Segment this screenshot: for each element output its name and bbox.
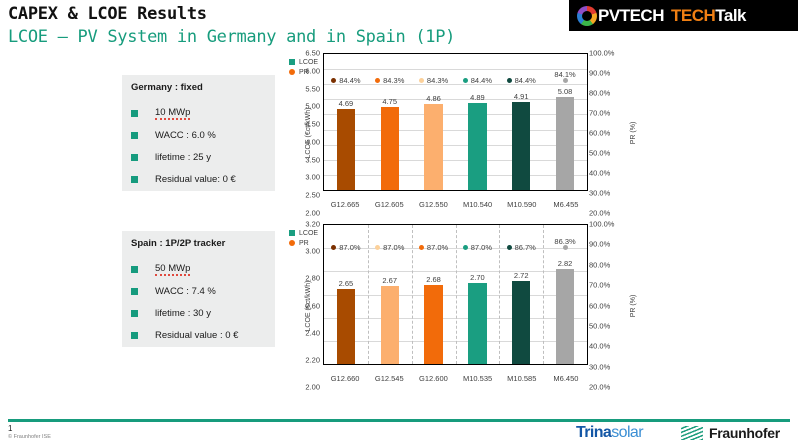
trinasolar-logo: Trinasolar (576, 424, 643, 442)
list-item: WACC : 7.4 % (131, 280, 265, 302)
legend-label: PR (299, 69, 309, 76)
y2-axis-tick: 70.0% (589, 281, 610, 290)
bullet-icon (131, 310, 138, 317)
bar-slot[interactable]: 4.89 (455, 54, 499, 190)
fraunhofer-wordmark: Fraunhofer (709, 425, 780, 441)
spain-residual-value: Residual value : 0 € (155, 330, 238, 341)
bullet-icon (131, 176, 138, 183)
germany-wacc: WACC : 6.0 % (155, 130, 216, 141)
spain-x-axis-labels: G12.660G12.545G12.600M10.535M10.585M6.45… (323, 374, 588, 383)
trina-word: Trina (576, 424, 611, 441)
germany-capacity: 10 MWp (155, 107, 190, 120)
y2-axis-tick: 60.0% (589, 301, 610, 310)
legend-item[interactable]: PR (289, 238, 318, 248)
y2-axis-tick: 30.0% (589, 189, 610, 198)
germany-assumptions-box: Germany : fixed 10 MWp WACC : 6.0 % life… (122, 75, 275, 191)
legend-label: LCOE (299, 230, 318, 237)
fraunhofer-stripes-icon (681, 426, 703, 440)
y-axis-tick: 3.00 (305, 173, 320, 182)
y2-axis-tick: 20.0% (589, 383, 610, 392)
spain-legend: LCOEPR (289, 228, 318, 248)
bar-value-label: 4.69 (339, 99, 354, 108)
y2-axis-tick: 100.0% (589, 220, 614, 229)
bar-value-label: 4.91 (514, 92, 529, 101)
bar-value-label: 2.68 (426, 275, 441, 284)
list-item: 50 MWp (131, 258, 265, 280)
spain-wacc: WACC : 7.4 % (155, 286, 216, 297)
x-axis-label: G12.665 (323, 200, 367, 209)
x-axis-label: M10.590 (500, 200, 544, 209)
y-axis-tick: 2.80 (305, 274, 320, 283)
bar-value-label: 2.67 (382, 276, 397, 285)
bar[interactable] (512, 102, 530, 190)
bar-slot[interactable]: 4.69 (324, 54, 368, 190)
x-axis-label: G12.660 (323, 374, 367, 383)
y-axis-tick: 2.20 (305, 355, 320, 364)
germany-y2-axis-title: PR (%) (630, 122, 637, 145)
bar[interactable] (424, 285, 442, 364)
y2-axis-tick: 40.0% (589, 342, 610, 351)
page-title: CAPEX & LCOE Results (8, 4, 207, 24)
bullet-icon (131, 266, 138, 273)
pr-value-label: 87.0% (471, 243, 492, 252)
pr-value-label: 84.4% (515, 76, 536, 85)
logo-word-tech2: TECH (671, 6, 715, 26)
bar[interactable] (424, 104, 442, 190)
y-axis-tick: 3.50 (305, 155, 320, 164)
bullet-icon (131, 288, 138, 295)
legend-marker-icon (289, 59, 295, 65)
spain-bars: 2.652.672.682.702.722.82 (324, 225, 587, 364)
y2-axis-tick: 80.0% (589, 89, 610, 98)
legend-marker-icon (289, 69, 295, 75)
spain-capacity: 50 MWp (155, 263, 190, 276)
pr-value-label: 84.4% (339, 76, 360, 85)
spain-plot-area: 2.652.672.682.702.722.82 87.0%87.0%87.0%… (323, 224, 588, 365)
y2-axis-tick: 30.0% (589, 362, 610, 371)
y-axis-tick: 5.00 (305, 102, 320, 111)
germany-lcoe-chart: LCOE (€ct/kWh) PR (%) 6.506.005.505.004.… (283, 53, 643, 213)
bar-value-label: 4.86 (426, 94, 441, 103)
bar-value-label: 4.75 (382, 97, 397, 106)
list-item: Residual value: 0 € (131, 168, 265, 190)
y2-axis-tick: 70.0% (589, 109, 610, 118)
x-axis-label: G12.605 (367, 200, 411, 209)
bar[interactable] (556, 97, 574, 190)
bar[interactable] (337, 109, 355, 190)
list-item: lifetime : 30 y (131, 302, 265, 324)
spain-box-title: Spain : 1P/2P tracker (131, 238, 265, 249)
y-axis-tick: 2.00 (305, 209, 320, 218)
bar-value-label: 2.70 (470, 273, 485, 282)
legend-item[interactable]: LCOE (289, 228, 318, 238)
logo-word-pv: PV (598, 6, 620, 26)
bar[interactable] (381, 107, 399, 190)
y2-axis-tick: 80.0% (589, 260, 610, 269)
bar-value-label: 2.65 (339, 279, 354, 288)
y-axis-tick: 3.00 (305, 247, 320, 256)
list-item: lifetime : 25 y (131, 146, 265, 168)
bullet-icon (131, 110, 138, 117)
spain-lifetime: lifetime : 30 y (155, 308, 211, 319)
list-item: Residual value : 0 € (131, 324, 265, 346)
bar[interactable] (337, 289, 355, 364)
pr-dot-icon (463, 78, 468, 83)
bar[interactable] (512, 281, 530, 364)
page-number: 1 (8, 424, 12, 433)
pr-value-label: 84.3% (383, 76, 404, 85)
pr-dot-icon (563, 78, 568, 83)
x-axis-label: M6.455 (544, 200, 588, 209)
bar[interactable] (468, 283, 486, 364)
legend-label: LCOE (299, 59, 318, 66)
x-axis-label: M10.540 (456, 200, 500, 209)
y2-axis-tick: 40.0% (589, 169, 610, 178)
bar-value-label: 5.08 (558, 87, 573, 96)
y-axis-tick: 4.50 (305, 120, 320, 129)
legend-marker-icon (289, 230, 295, 236)
spain-lcoe-chart: LCOE (€ct/kWh) PR (%) 3.203.002.802.602.… (283, 224, 643, 387)
y2-axis-tick: 50.0% (589, 321, 610, 330)
y2-axis-tick: 50.0% (589, 149, 610, 158)
bullet-icon (131, 332, 138, 339)
bar-slot[interactable]: 4.86 (412, 54, 456, 190)
pvtech-circle-icon (577, 6, 597, 26)
spain-y2-axis-title: PR (%) (630, 294, 637, 317)
bullet-icon (131, 132, 138, 139)
x-axis-label: M6.450 (544, 374, 588, 383)
legend-item[interactable]: LCOE (289, 57, 318, 67)
legend-item[interactable]: PR (289, 67, 318, 77)
spain-assumptions-box: Spain : 1P/2P tracker 50 MWp WACC : 7.4 … (122, 231, 275, 347)
pr-value-label: 84.3% (427, 76, 448, 85)
x-axis-label: M10.535 (456, 374, 500, 383)
bullet-icon (131, 154, 138, 161)
germany-legend: LCOEPR (289, 57, 318, 77)
germany-x-axis-labels: G12.665G12.605G12.550M10.540M10.590M6.45… (323, 200, 588, 209)
y-axis-tick: 2.60 (305, 301, 320, 310)
y2-axis-tick: 100.0% (589, 49, 614, 58)
pr-dot-icon (507, 78, 512, 83)
germany-y2-axis-ticks: 100.0%90.0%80.0%70.0%60.0%50.0%40.0%30.0… (589, 53, 621, 213)
page-subtitle: LCOE – PV System in Germany and in Spain… (8, 27, 455, 47)
pvtech-techtalk-logo: PV TECH TECH Talk (569, 0, 798, 31)
pr-value-label: 86.3% (554, 237, 575, 246)
pr-value-label: 84.4% (471, 76, 492, 85)
germany-box-title: Germany : fixed (131, 82, 265, 93)
copyright-notice: © Fraunhofer ISE (8, 434, 51, 440)
y2-axis-tick: 60.0% (589, 129, 610, 138)
germany-lifetime: lifetime : 25 y (155, 152, 211, 163)
list-item: WACC : 6.0 % (131, 124, 265, 146)
x-axis-label: M10.585 (500, 374, 544, 383)
y-axis-tick: 4.00 (305, 137, 320, 146)
bar[interactable] (468, 103, 486, 190)
pr-value-label: 87.0% (383, 243, 404, 252)
spain-y-axis-ticks: 3.203.002.802.602.402.202.00 (292, 224, 320, 387)
x-axis-label: G12.545 (367, 374, 411, 383)
fraunhofer-logo: Fraunhofer (681, 425, 780, 441)
germany-bars: 4.694.754.864.894.915.08 (324, 54, 587, 190)
germany-y-axis-ticks: 6.506.005.505.004.504.003.503.002.502.00 (292, 53, 320, 213)
pr-value-label: 86.7% (515, 243, 536, 252)
y-axis-tick: 2.40 (305, 328, 320, 337)
pr-value-label: 84.1% (554, 70, 575, 79)
bar-value-label: 2.72 (514, 271, 529, 280)
bar-slot[interactable]: 4.75 (368, 54, 412, 190)
y-axis-tick: 2.00 (305, 383, 320, 392)
y2-axis-tick: 20.0% (589, 209, 610, 218)
bar[interactable] (556, 269, 574, 364)
spain-y2-axis-ticks: 100.0%90.0%80.0%70.0%60.0%50.0%40.0%30.0… (589, 224, 621, 387)
solar-word: solar (611, 424, 643, 441)
bar-value-label: 2.82 (558, 259, 573, 268)
pr-value-label: 87.0% (427, 243, 448, 252)
germany-plot-area: 4.694.754.864.894.915.08 84.4%84.3%84.3%… (323, 53, 588, 191)
germany-residual-value: Residual value: 0 € (155, 174, 236, 185)
footer-divider (8, 419, 790, 422)
y2-axis-tick: 90.0% (589, 240, 610, 249)
x-axis-label: G12.550 (411, 200, 455, 209)
bar[interactable] (381, 286, 399, 364)
bar-value-label: 4.89 (470, 93, 485, 102)
legend-label: PR (299, 240, 309, 247)
pr-value-label: 87.0% (339, 243, 360, 252)
y-axis-tick: 5.50 (305, 84, 320, 93)
logo-word-talk: Talk (715, 6, 746, 26)
x-axis-label: G12.600 (411, 374, 455, 383)
y-axis-tick: 2.50 (305, 191, 320, 200)
list-item: 10 MWp (131, 102, 265, 124)
logo-word-tech: TECH (620, 6, 664, 26)
y2-axis-tick: 90.0% (589, 69, 610, 78)
legend-marker-icon (289, 240, 295, 246)
bar-slot[interactable]: 4.91 (499, 54, 543, 190)
